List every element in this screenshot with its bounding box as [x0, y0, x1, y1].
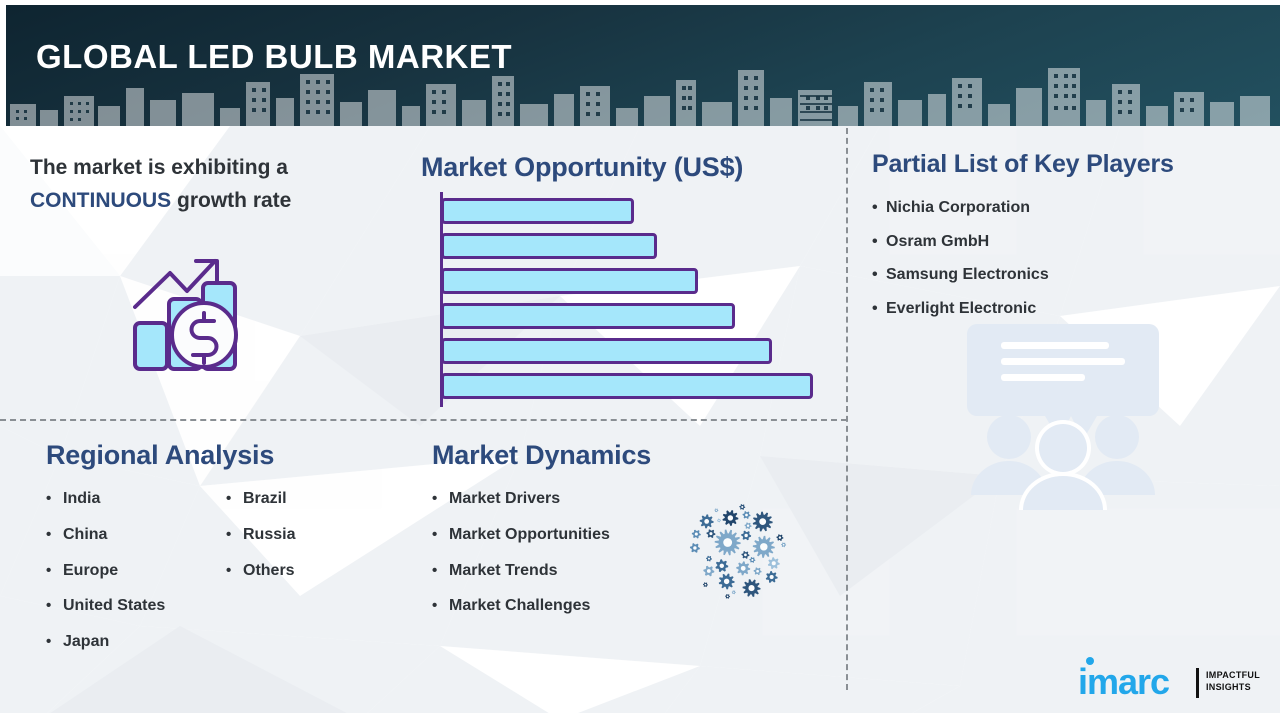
bullet-icon: •	[46, 563, 63, 579]
bullet-icon: •	[432, 563, 449, 579]
dynamics-item-label: Market Drivers	[449, 490, 560, 507]
bullet-icon: •	[226, 527, 243, 543]
bullet-icon: •	[46, 598, 63, 614]
key-player-item-label: Osram GmbH	[886, 233, 989, 250]
bullet-icon: •	[46, 527, 63, 543]
key-players-list: •Nichia Corporation•Osram GmbH•Samsung E…	[872, 191, 1272, 325]
bar-5	[441, 338, 772, 364]
key-player-item: •Osram GmbH	[872, 225, 1272, 259]
logo-tagline-line-2: INSIGHTS	[1206, 682, 1260, 694]
bullet-icon: •	[432, 527, 449, 543]
speech-bubble-people-icon	[965, 320, 1161, 515]
region-item-label: China	[63, 526, 107, 543]
horizontal-divider	[0, 419, 847, 421]
bar-4	[441, 303, 735, 329]
imarc-logo: imarc IMPACTFUL INSIGHTS	[1078, 666, 1169, 698]
region-item: •India	[46, 481, 226, 517]
region-item-label: India	[63, 490, 100, 507]
page-title: GLOBAL LED BULB MARKET	[36, 38, 512, 76]
logo-tagline: IMPACTFUL INSIGHTS	[1206, 670, 1260, 693]
bullet-icon: •	[872, 266, 886, 284]
market-dynamics-title: Market Dynamics	[432, 440, 732, 471]
vertical-divider	[846, 128, 848, 690]
bar-2	[441, 233, 657, 259]
bullet-icon: •	[46, 634, 63, 650]
region-item-label: Others	[243, 562, 295, 579]
dynamics-item-label: Market Challenges	[449, 597, 590, 614]
dynamics-item-label: Market Opportunities	[449, 526, 610, 543]
region-item: •Brazil	[226, 481, 406, 517]
bullet-icon: •	[432, 491, 449, 507]
key-player-item: •Samsung Electronics	[872, 258, 1272, 292]
bullet-icon: •	[872, 233, 886, 251]
dynamics-item-label: Market Trends	[449, 562, 557, 579]
logo-dot-icon	[1086, 657, 1094, 665]
key-player-item-label: Everlight Electronic	[886, 300, 1036, 317]
header-banner: GLOBAL LED BULB MARKET	[0, 0, 1280, 126]
bar-6	[441, 373, 813, 399]
market-opportunity-bar-chart	[432, 192, 832, 407]
region-item: •Japan	[46, 624, 226, 660]
bullet-icon: •	[226, 563, 243, 579]
regional-list-right: •Brazil•Russia•Others	[226, 481, 406, 660]
regional-analysis-title: Regional Analysis	[46, 440, 426, 471]
gears-circle-icon	[682, 497, 792, 606]
bullet-icon: •	[46, 491, 63, 507]
bar-3	[441, 268, 698, 294]
statement-line-1: The market is exhibiting a	[30, 152, 410, 185]
statement-line-2: CONTINUOUS growth rate	[30, 185, 410, 218]
statement-line-2-rest: growth rate	[171, 189, 291, 212]
logo-tagline-line-1: IMPACTFUL	[1206, 670, 1260, 682]
region-item: •Russia	[226, 517, 406, 553]
region-item-label: Europe	[63, 562, 118, 579]
region-item: •United States	[46, 588, 226, 624]
key-player-item-label: Nichia Corporation	[886, 199, 1030, 216]
bullet-icon: •	[432, 598, 449, 614]
market-opportunity-section: Market Opportunity (US$)	[421, 152, 841, 183]
region-item-label: Brazil	[243, 490, 287, 507]
key-player-item: •Nichia Corporation	[872, 191, 1272, 225]
key-players-section: Partial List of Key Players •Nichia Corp…	[872, 150, 1272, 325]
region-item: •Europe	[46, 553, 226, 589]
market-statement: The market is exhibiting a CONTINUOUS gr…	[30, 152, 410, 217]
bar-1	[441, 198, 634, 224]
bullet-icon: •	[226, 491, 243, 507]
bullet-icon: •	[872, 300, 886, 318]
statement-highlight: CONTINUOUS	[30, 189, 171, 212]
market-opportunity-title: Market Opportunity (US$)	[421, 152, 841, 183]
logo-divider	[1196, 668, 1199, 698]
region-item-label: Japan	[63, 633, 109, 650]
infographic-slide: GLOBAL LED BULB MARKET The market is exh…	[0, 0, 1280, 720]
key-players-title: Partial List of Key Players	[872, 150, 1272, 179]
regional-list-left: •India•China•Europe•United States•Japan	[46, 481, 226, 660]
key-player-item-label: Samsung Electronics	[886, 266, 1049, 283]
bullet-icon: •	[872, 199, 886, 217]
bottom-white-edge	[0, 713, 1280, 720]
logo-wordmark: imarc	[1078, 666, 1169, 698]
regional-analysis-section: Regional Analysis •India•China•Europe•Un…	[46, 440, 426, 660]
region-item-label: Russia	[243, 526, 295, 543]
region-item: •Others	[226, 553, 406, 589]
growth-chart-dollar-icon	[132, 255, 260, 378]
region-item-label: United States	[63, 597, 165, 614]
region-item: •China	[46, 517, 226, 553]
